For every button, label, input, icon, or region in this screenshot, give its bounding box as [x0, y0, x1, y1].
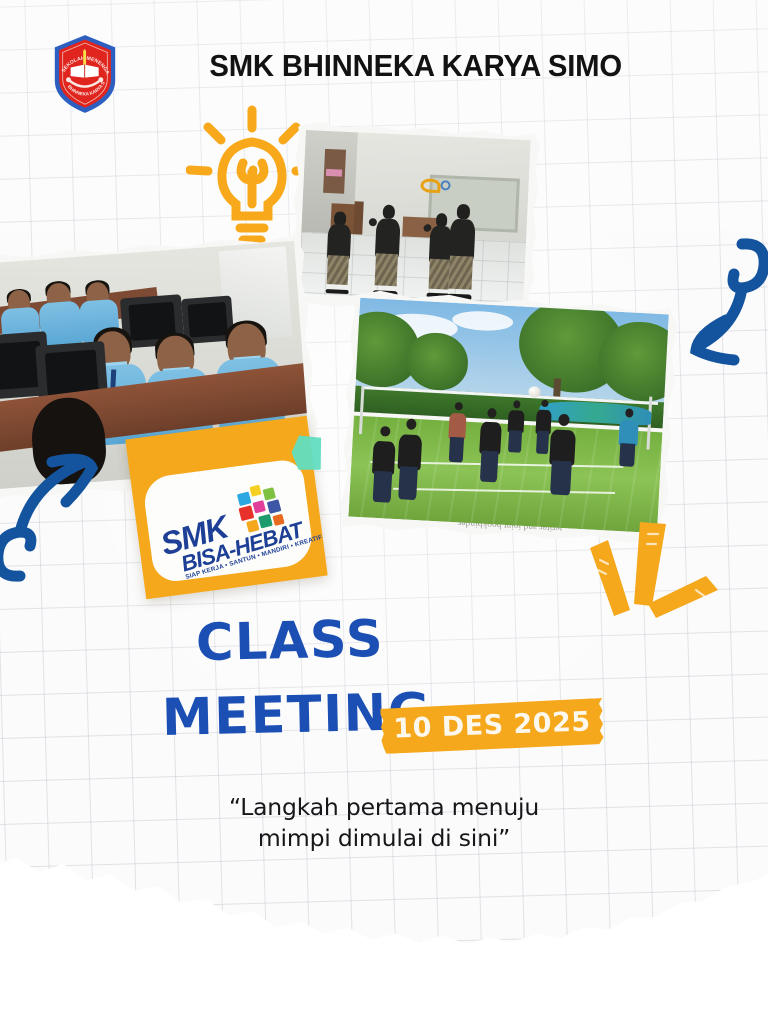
page-title: SMK BHINNEKA KARYA SIMO	[15, 49, 752, 84]
smk-card-plate: SMK BISA-HEBAT SIAP KERJA • SANTUN • MAN…	[142, 458, 315, 584]
quote-line-2: mimpi dimulai di sini”	[0, 823, 768, 854]
curly-arrow-left-doodle	[0, 444, 116, 592]
photo-volleyball-match: ...writer and joint bookbinder ...writer…	[338, 288, 681, 546]
poster-quote: “Langkah pertama menuju mimpi dimulai di…	[0, 792, 768, 855]
quote-line-1: “Langkah pertama menuju	[0, 792, 768, 823]
orange-burst-doodle	[568, 518, 724, 634]
curly-arrow-right-doodle	[668, 228, 768, 368]
class-meeting-poster: SEKOLAH MENENGAH KEJURUAN BHINNEKA KARYA…	[0, 0, 768, 1024]
photo-classroom-dance: Page 2	[288, 121, 542, 318]
headline-class: CLASS	[195, 610, 384, 673]
